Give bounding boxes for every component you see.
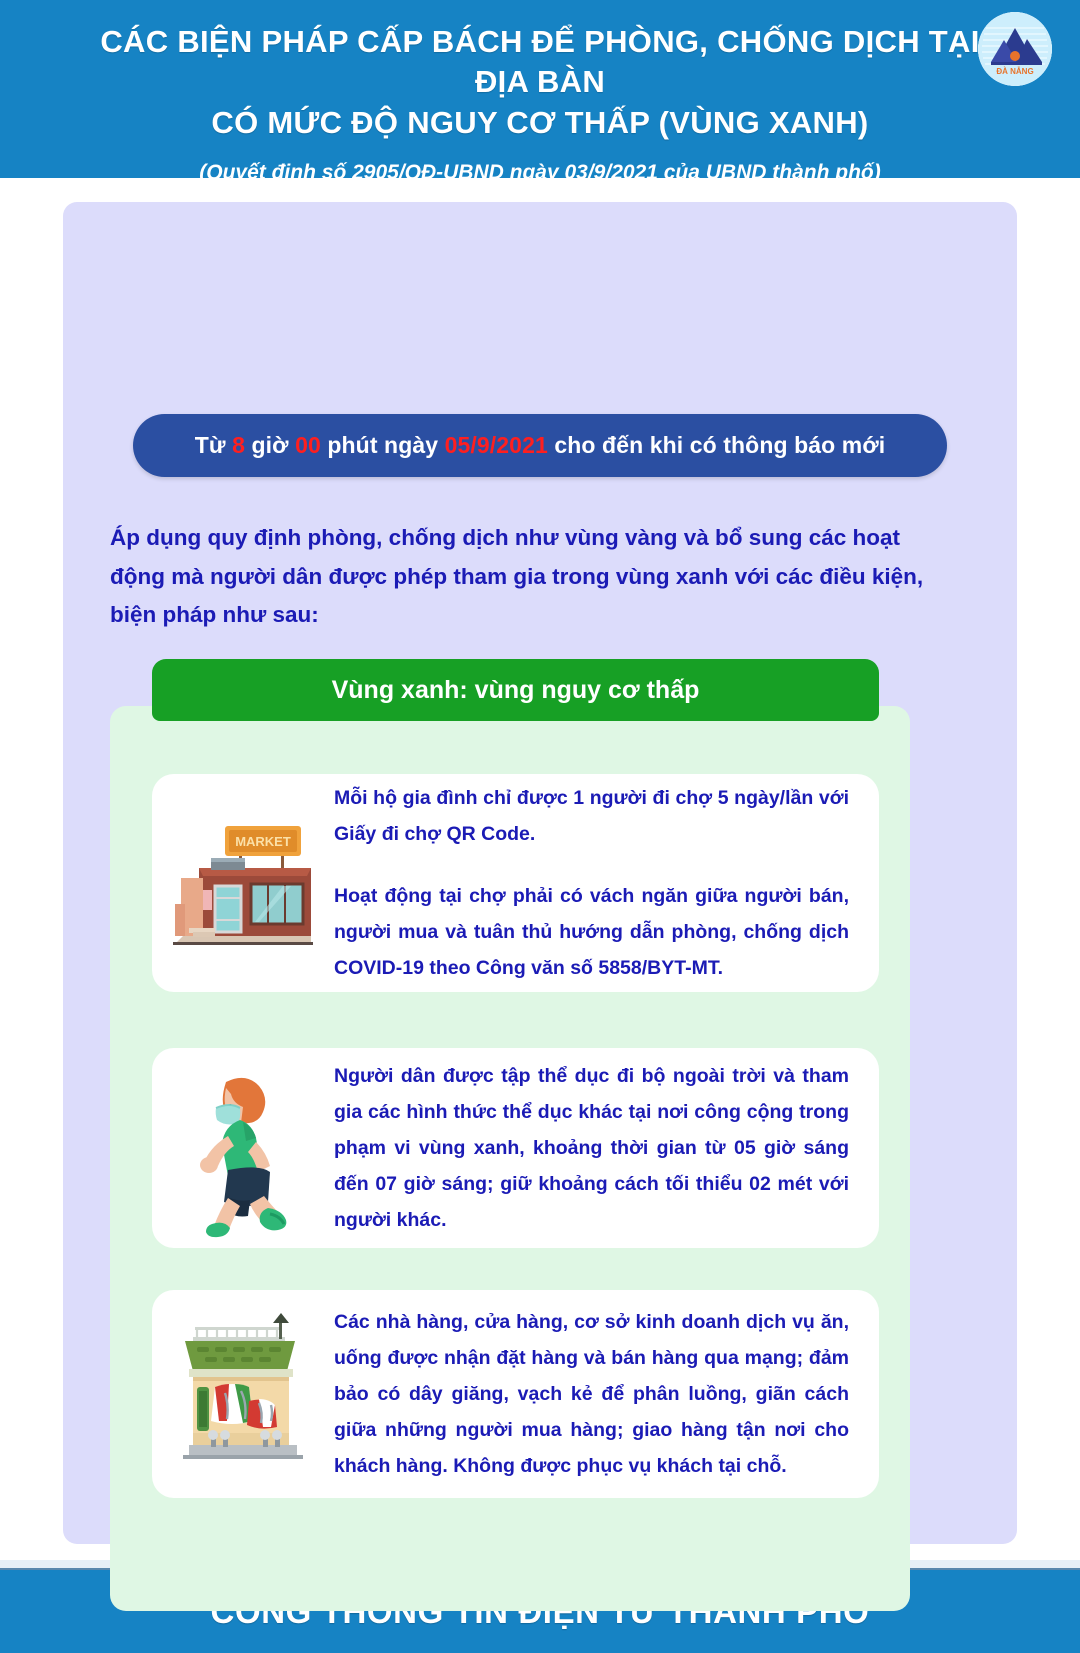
infographic-page: CÁC BIỆN PHÁP CẤP BÁCH ĐỂ PHÒNG, CHỐNG D…	[0, 0, 1080, 1653]
page-title-line-1: CÁC BIỆN PHÁP CẤP BÁCH ĐỂ PHÒNG, CHỐNG D…	[80, 22, 1000, 103]
market-building-icon: MARKET	[152, 808, 334, 958]
card-1-paragraph-2: Hoạt động tại chợ phải có vách ngăn giữa…	[334, 878, 849, 986]
jogging-person-icon	[152, 1058, 334, 1238]
date-value: 05/9/2021	[445, 432, 548, 458]
date-minute: 00	[295, 432, 321, 458]
measure-card-restaurant: Các nhà hàng, cửa hàng, cơ sở kinh doanh…	[152, 1290, 879, 1498]
date-mid-1: giờ	[245, 432, 295, 458]
header-banner: CÁC BIỆN PHÁP CẤP BÁCH ĐỂ PHÒNG, CHỐNG D…	[0, 0, 1080, 178]
effective-date-text: Từ 8 giờ 00 phút ngày 05/9/2021 cho đến …	[195, 432, 886, 459]
date-suffix: cho đến khi có thông báo mới	[548, 432, 885, 458]
measure-card-exercise: Người dân được tập thể dục đi bộ ngoài t…	[152, 1048, 879, 1248]
green-zone-title-bar: Vùng xanh: vùng nguy cơ thấp	[152, 659, 879, 721]
measure-card-exercise-text: Người dân được tập thể dục đi bộ ngoài t…	[334, 1058, 879, 1238]
logo-caption: ĐÀ NẴNG	[996, 67, 1033, 76]
card-3-paragraph-1: Các nhà hàng, cửa hàng, cơ sở kinh doanh…	[334, 1304, 849, 1484]
danang-logo-icon: ĐÀ NẴNG	[978, 12, 1052, 86]
date-mid-2: phút ngày	[321, 432, 445, 458]
date-hour: 8	[232, 432, 245, 458]
green-zone-title: Vùng xanh: vùng nguy cơ thấp	[332, 676, 700, 705]
content-area: Từ 8 giờ 00 phút ngày 05/9/2021 cho đến …	[0, 178, 1080, 1573]
card-1-paragraph-1: Mỗi hộ gia đình chỉ được 1 người đi chợ …	[334, 780, 849, 852]
page-title-line-2: CÓ MỨC ĐỘ NGUY CƠ THẤP (VÙNG XANH)	[80, 103, 1000, 143]
restaurant-shop-icon	[152, 1309, 334, 1479]
measure-card-market-text: Mỗi hộ gia đình chỉ được 1 người đi chợ …	[334, 780, 879, 986]
measure-card-restaurant-text: Các nhà hàng, cửa hàng, cơ sở kinh doanh…	[334, 1304, 879, 1484]
card-2-paragraph-1: Người dân được tập thể dục đi bộ ngoài t…	[334, 1058, 849, 1238]
intro-paragraph: Áp dụng quy định phòng, chống dịch như v…	[110, 519, 940, 635]
effective-date-banner: Từ 8 giờ 00 phút ngày 05/9/2021 cho đến …	[133, 414, 947, 477]
market-sign-text: MARKET	[235, 834, 291, 849]
measure-card-market: MARKET	[152, 774, 879, 992]
date-prefix: Từ	[195, 432, 232, 458]
page-title: CÁC BIỆN PHÁP CẤP BÁCH ĐỂ PHÒNG, CHỐNG D…	[80, 22, 1000, 143]
